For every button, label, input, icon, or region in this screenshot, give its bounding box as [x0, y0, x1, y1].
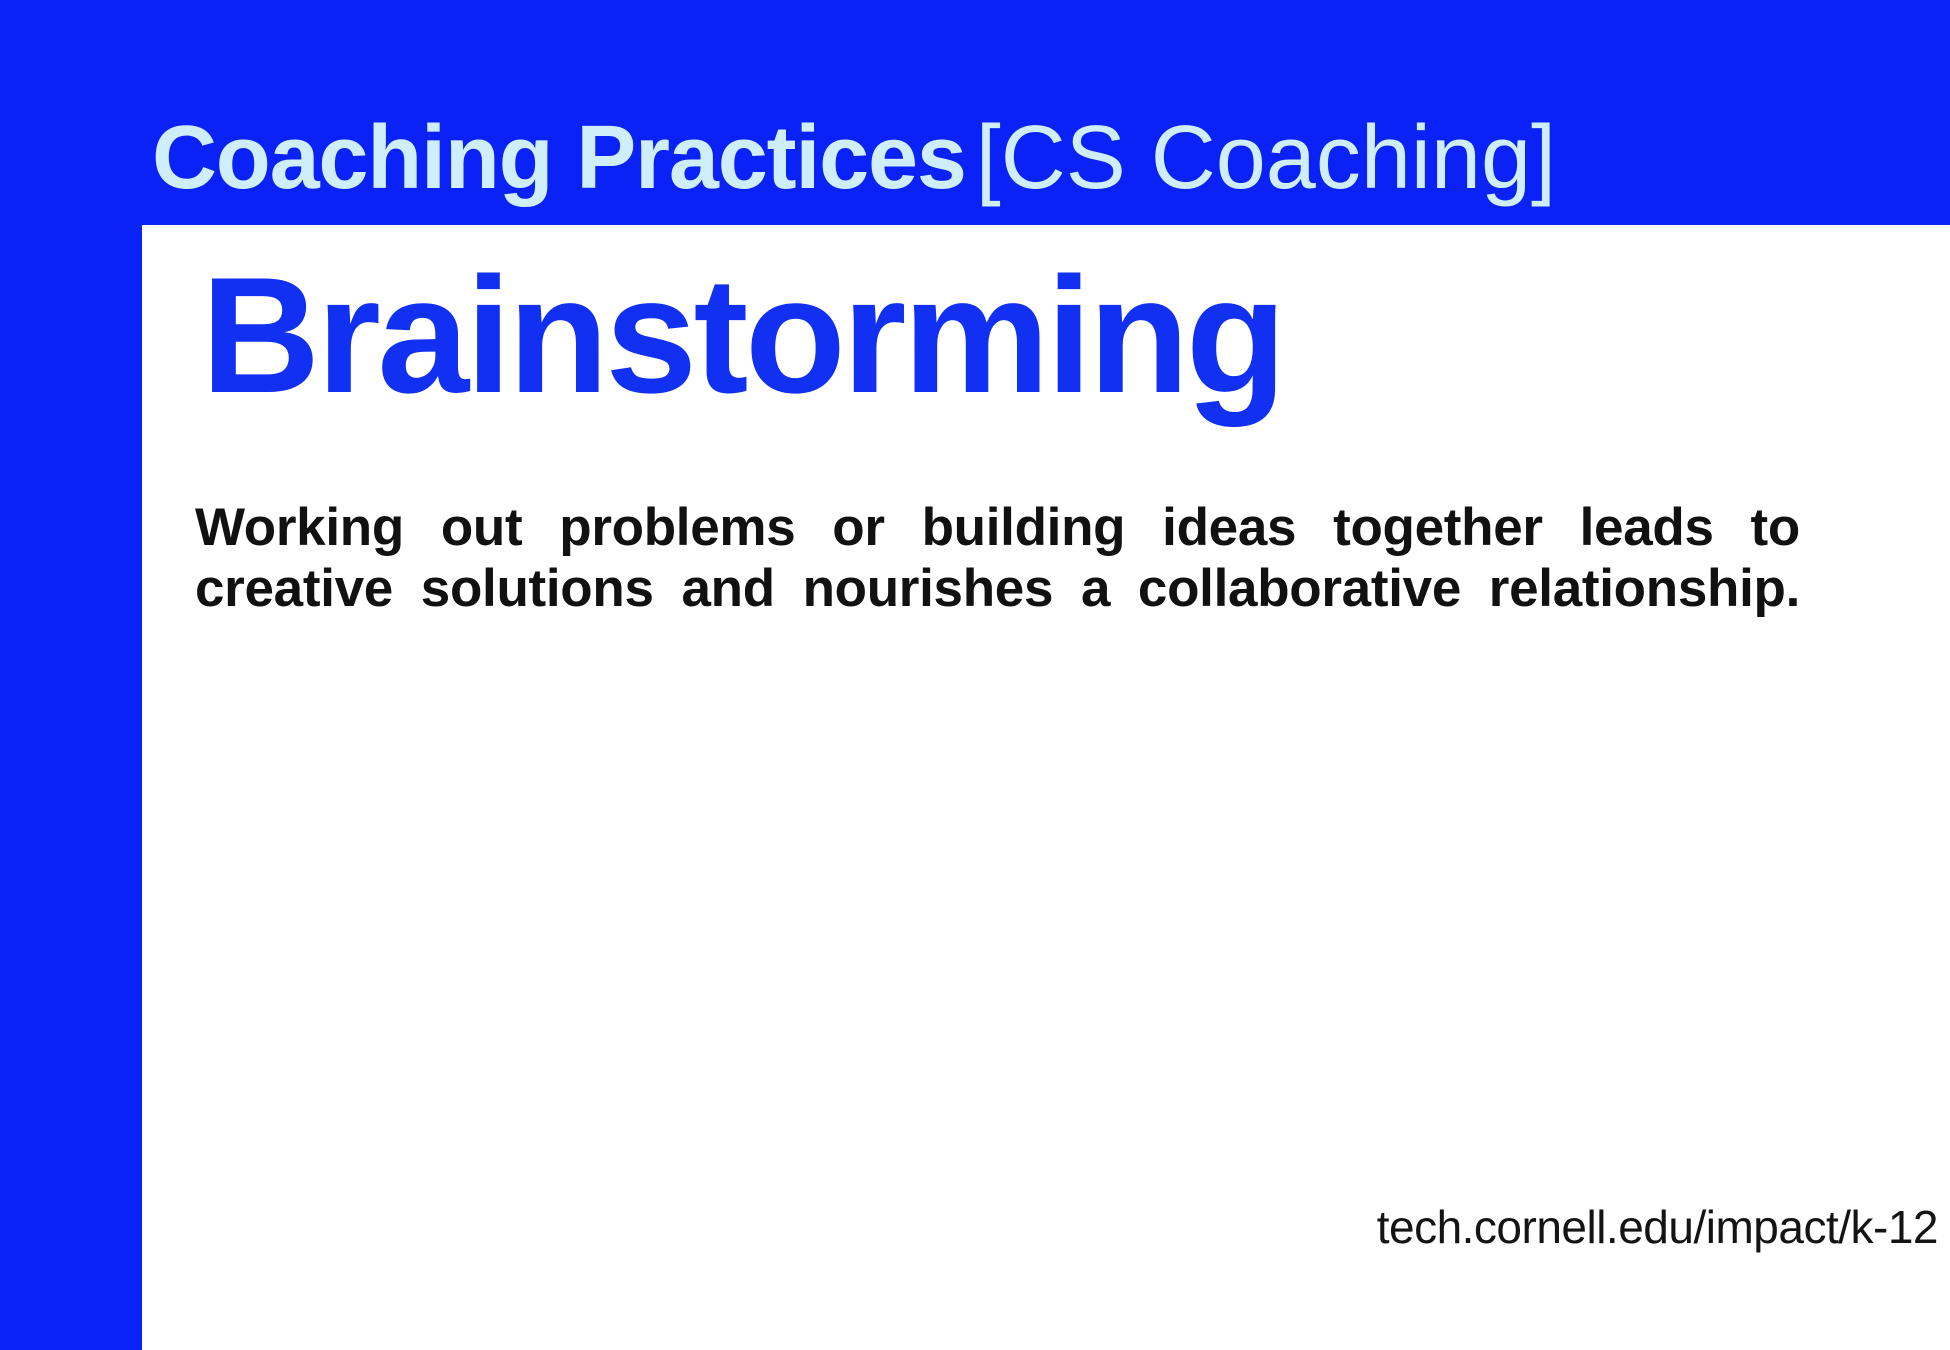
practice-description: Working out problems or building ideas t… [195, 497, 1800, 681]
slide-canvas: Coaching Practices[CS Coaching] Brainsto… [0, 0, 1950, 1350]
content-card: Brainstorming Working out problems or bu… [142, 225, 1950, 1350]
header-series-label: Coaching Practices [152, 108, 966, 208]
header-title: Coaching Practices[CS Coaching] [152, 113, 1556, 203]
page-title: Brainstorming [201, 251, 1283, 419]
header-band: Coaching Practices[CS Coaching] [0, 0, 1950, 225]
footer-url[interactable]: tech.cornell.edu/impact/k-12 [195, 1200, 1940, 1254]
content-card-inner: Brainstorming Working out problems or bu… [195, 225, 1940, 1350]
header-category-label: [CS Coaching] [976, 108, 1556, 208]
